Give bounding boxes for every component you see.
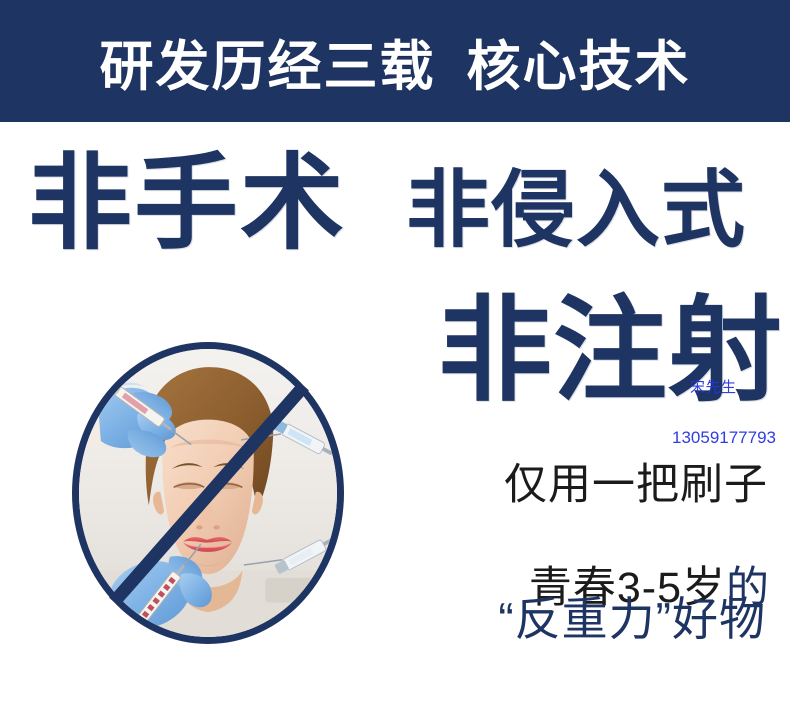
- no-injection-photo-circle: [72, 342, 344, 644]
- contact-watermark: 宋先生 13059177793: [690, 346, 776, 480]
- promo-poster: 研发历经三载 核心技术 非手术 非侵入式 非注射: [0, 0, 790, 726]
- headline-non-surgical: 非手术: [28, 152, 346, 256]
- watermark-name: 宋先生: [690, 380, 776, 396]
- headline-non-invasive: 非侵入式: [406, 168, 746, 252]
- watermark-phone: 13059177793: [672, 429, 776, 447]
- body-line-antigravity: “反重力”好物: [498, 596, 766, 642]
- header-title: 研发历经三载 核心技术: [0, 0, 790, 122]
- facial-injection-photo: [79, 349, 337, 637]
